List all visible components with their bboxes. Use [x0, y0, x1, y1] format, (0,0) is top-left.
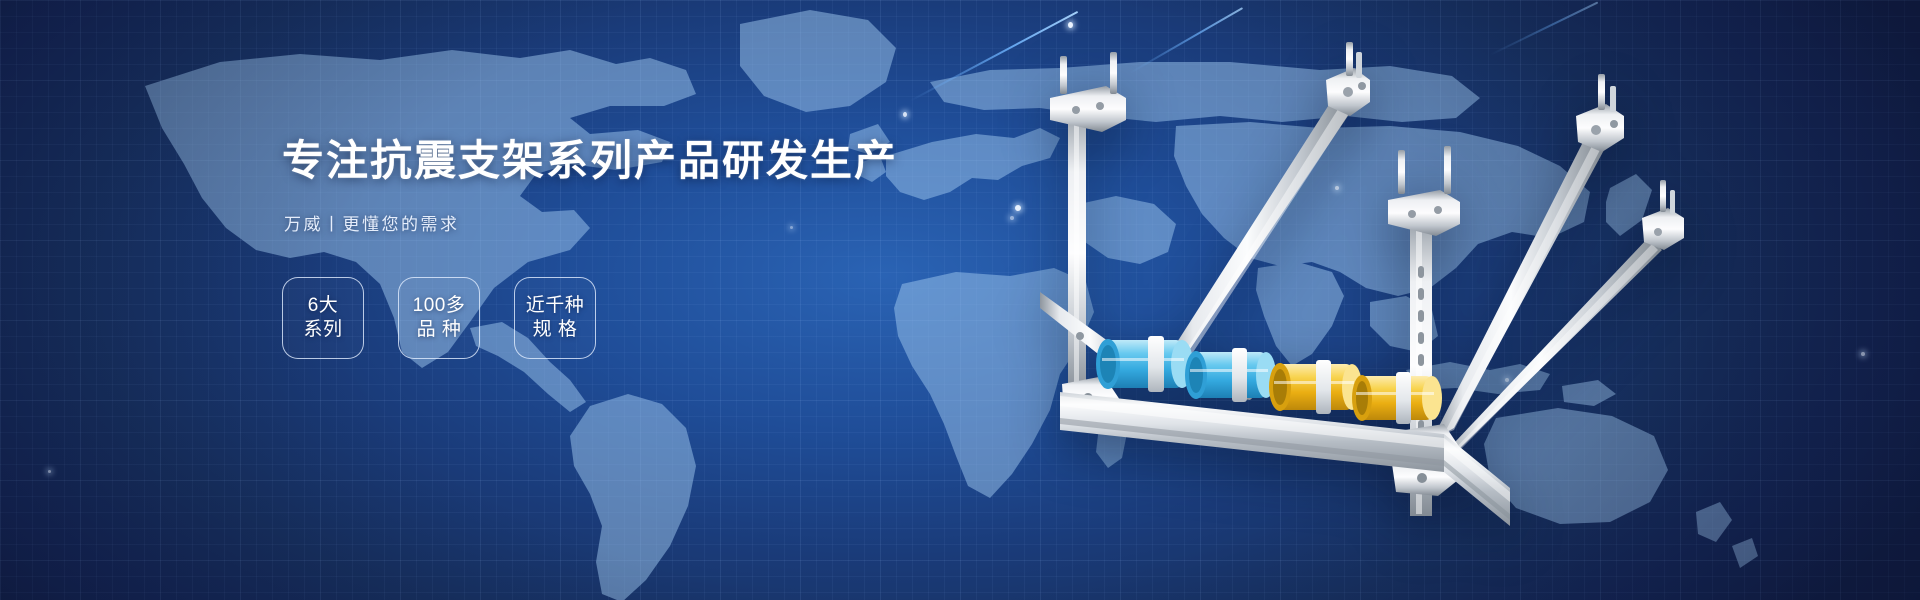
badge-series-line2: 系列 — [303, 318, 342, 342]
badge-varieties-line2: 品 种 — [417, 318, 462, 342]
banner-copy: 专注抗震支架系列产品研发生产 万威丨更懂您的需求 6大 系列 100多 品 种 … — [282, 140, 922, 359]
banner-subline: 万威丨更懂您的需求 — [284, 216, 922, 233]
star-2 — [903, 112, 907, 117]
feature-badge-specs[interactable]: 近千种 规 格 — [514, 277, 596, 359]
feature-badge-list: 6大 系列 100多 品 种 近千种 规 格 — [282, 277, 922, 359]
brace-left-diagonal — [1158, 42, 1370, 372]
banner-headline: 专注抗震支架系列产品研发生产 — [282, 140, 922, 182]
pipe-yellow-1 — [1269, 360, 1362, 414]
star-8 — [48, 470, 51, 473]
hero-banner: 专注抗震支架系列产品研发生产 万威丨更懂您的需求 6大 系列 100多 品 种 … — [0, 0, 1920, 600]
product-image-seismic-bracket — [1040, 40, 1900, 560]
badge-specs-line1: 近千种 — [526, 294, 585, 318]
star-4 — [1010, 216, 1014, 220]
star-3 — [1015, 205, 1021, 211]
pipe-blue-1 — [1096, 336, 1193, 392]
pipe-blue-2 — [1185, 348, 1276, 402]
brace-right-diagonal-1 — [1432, 74, 1624, 440]
badge-series-line1: 6大 — [308, 294, 339, 318]
pipe-yellow-2 — [1352, 372, 1442, 424]
feature-badge-varieties[interactable]: 100多 品 种 — [398, 277, 480, 359]
badge-specs-line2: 规 格 — [533, 318, 578, 342]
star-1 — [1068, 22, 1073, 28]
feature-badge-series[interactable]: 6大 系列 — [282, 277, 364, 359]
horizontal-strut-channel — [1060, 392, 1510, 526]
badge-varieties-line1: 100多 — [413, 294, 466, 318]
